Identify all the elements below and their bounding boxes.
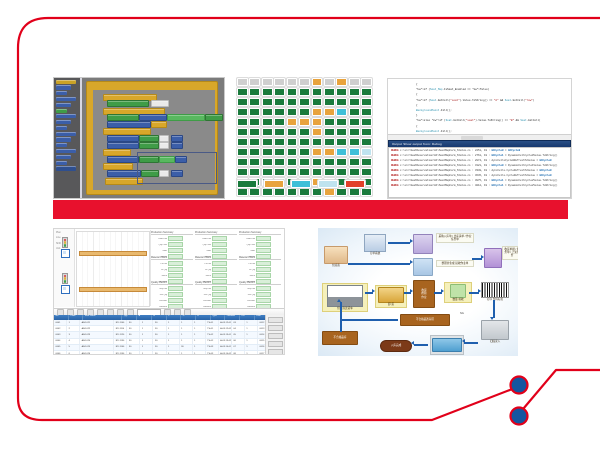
status-grid-cell[interactable] (274, 118, 285, 126)
table-cell[interactable]: RX-1100 (114, 320, 127, 325)
status-grid-cell[interactable] (336, 158, 347, 166)
status-grid-cell[interactable] (361, 108, 372, 116)
status-grid-cell[interactable] (349, 188, 360, 196)
status-grid-cell[interactable] (361, 168, 372, 176)
sheet-side-buttons[interactable] (265, 315, 284, 354)
status-grid-cell[interactable] (324, 138, 335, 146)
status-grid-cell[interactable] (349, 98, 360, 106)
status-grid-cell[interactable] (349, 158, 360, 166)
report-value (212, 248, 227, 253)
arrowhead-scan-to-putaway (462, 339, 465, 343)
table-cell[interactable]: RX-1140 (114, 345, 127, 350)
code-block[interactable] (139, 142, 159, 149)
status-grid-cell[interactable] (249, 98, 260, 106)
table-cell[interactable]: 08 (232, 351, 245, 354)
table-cell[interactable]: 0005 (54, 345, 67, 350)
flow-node-top[interactable] (61, 249, 70, 258)
status-grid-cell[interactable] (361, 78, 372, 86)
code-block[interactable] (107, 114, 139, 121)
table-cell[interactable]: AB-1025 (80, 345, 114, 350)
palette-block[interactable] (56, 109, 67, 113)
block-canvas[interactable] (82, 78, 224, 198)
table-cell[interactable]: 0004 (54, 339, 67, 344)
status-grid-cell[interactable] (274, 168, 285, 176)
palette-block[interactable] (56, 91, 67, 95)
table-cell[interactable]: A-03-13-01 (219, 332, 232, 337)
table-cell[interactable]: A-03-14-01 (219, 345, 232, 350)
table-cell[interactable]: RX-1130 (114, 339, 127, 344)
table-cell[interactable]: 1 (245, 326, 258, 331)
table-cell[interactable]: TS-01 (206, 320, 219, 325)
status-grid-cell[interactable] (312, 78, 323, 86)
arrow-reject-down (340, 319, 342, 332)
status-grid-cell[interactable] (299, 168, 310, 176)
status-grid-cell[interactable] (249, 78, 260, 86)
palette-block[interactable] (56, 126, 67, 130)
table-cell[interactable]: 1 (180, 351, 193, 354)
status-grid-cell[interactable] (274, 88, 285, 96)
status-grid-cell[interactable] (312, 158, 323, 166)
report-row: In Qty (195, 267, 237, 272)
table-cell[interactable]: 1 (193, 345, 206, 350)
table-cell[interactable]: 30 (127, 339, 140, 344)
code-block[interactable] (159, 135, 169, 142)
palette-block[interactable] (56, 161, 67, 165)
table-cell[interactable]: 2 (67, 326, 80, 331)
status-grid-cell[interactable] (299, 148, 310, 156)
palette-block[interactable] (56, 85, 71, 89)
status-grid-cell[interactable] (249, 118, 260, 126)
status-grid-panel[interactable] (237, 78, 372, 176)
status-grid-cell[interactable] (287, 88, 298, 96)
table-cell[interactable]: 30 (180, 345, 193, 350)
table-cell[interactable]: RX-1150 (114, 351, 127, 354)
status-grid-cell[interactable] (312, 118, 323, 126)
flow-node-putaway (430, 335, 464, 355)
status-grid-cell[interactable] (249, 108, 260, 116)
code-block[interactable] (103, 128, 151, 135)
status-grid-cell[interactable] (274, 188, 285, 196)
table-cell[interactable]: TS-03 (206, 351, 219, 354)
status-grid-cell[interactable] (287, 158, 298, 166)
table-cell[interactable]: 30 (127, 332, 140, 337)
flow-label-qty-check: 数量 验收 (452, 298, 463, 301)
code-block[interactable] (151, 121, 167, 128)
table-cell[interactable]: 03 (232, 320, 245, 325)
status-grid-cell[interactable] (237, 148, 248, 156)
status-grid-cell[interactable] (262, 188, 273, 196)
report-section-title: Quality Record (239, 281, 281, 285)
report-value (168, 298, 183, 303)
palette-block[interactable] (56, 149, 76, 153)
report-label: Qty Plan (151, 244, 167, 246)
table-cell[interactable]: A-03-12-02 (219, 326, 232, 331)
status-grid-cell[interactable] (312, 98, 323, 106)
report-label: NG Qty (195, 294, 211, 296)
status-grid-cell[interactable] (324, 108, 335, 116)
gantt-bar-2[interactable] (79, 287, 147, 292)
code-editor-panel[interactable]: { "kw">if (Seat_Map.IsSeat_Enabled == "k… (387, 78, 572, 199)
status-grid-cell[interactable] (324, 168, 335, 176)
report-label: Order No (151, 238, 167, 240)
status-grid-cell[interactable] (287, 98, 298, 106)
table-cell[interactable]: 1 (140, 339, 153, 344)
code-block[interactable] (103, 163, 133, 170)
status-grid-cell[interactable] (237, 188, 248, 196)
table-cell[interactable]: 30 (153, 351, 166, 354)
code-block[interactable] (171, 135, 183, 142)
table-cell[interactable]: RX-1120 (114, 332, 127, 337)
table-cell[interactable]: 1 (140, 326, 153, 331)
table-cell[interactable]: A-03-14-02 (219, 351, 232, 354)
status-grid-cell[interactable] (349, 118, 360, 126)
report-value (256, 273, 271, 278)
status-grid-cell[interactable] (361, 128, 372, 136)
status-grid-cell[interactable] (349, 148, 360, 156)
palette-block[interactable] (56, 114, 76, 118)
status-grid-cell[interactable] (336, 98, 347, 106)
table-cell[interactable]: 0003 (54, 332, 67, 337)
table-cell[interactable]: 0002 (54, 326, 67, 331)
status-grid-cell[interactable] (249, 138, 260, 146)
table-cell[interactable]: TS-03 (206, 345, 219, 350)
status-grid-cell[interactable] (237, 158, 248, 166)
code-block[interactable] (139, 135, 159, 142)
status-grid-cell[interactable] (249, 88, 260, 96)
status-grid-cell[interactable] (274, 128, 285, 136)
table-cell[interactable]: 0006 (54, 351, 67, 354)
report-row: Lot No (239, 261, 281, 266)
frame-path-tail (510, 370, 600, 415)
status-grid-cell[interactable] (312, 138, 323, 146)
code-block[interactable] (205, 114, 223, 121)
table-cell[interactable]: 1 (140, 345, 153, 350)
status-grid-cell[interactable] (237, 128, 248, 136)
report-section-title: Production Summary (195, 231, 237, 235)
accent-dot-lower (511, 408, 528, 425)
status-grid-cell[interactable] (299, 88, 310, 96)
console-output-body[interactable]: DEBUG c:\src\SeatReservation\UI\SeatMapF… (388, 147, 571, 198)
gantt-bar-1[interactable] (79, 251, 147, 256)
table-cell[interactable]: 1 (193, 332, 206, 337)
table-cell[interactable]: 1 (193, 351, 206, 354)
report-value (212, 242, 227, 247)
table-cell[interactable]: 1 (167, 345, 180, 350)
status-grid-cell[interactable] (349, 108, 360, 116)
status-grid-cell[interactable] (299, 108, 310, 116)
flow-node-supplier: 供应商 (324, 246, 348, 267)
code-block[interactable] (107, 142, 139, 149)
report-label: Order No (239, 238, 255, 240)
palette-block[interactable] (56, 166, 76, 170)
status-grid-cell[interactable] (336, 78, 347, 86)
table-cell[interactable]: TS-02 (206, 332, 219, 337)
status-grid-cell[interactable] (287, 118, 298, 126)
status-grid-cell[interactable] (299, 118, 310, 126)
table-cell[interactable]: 1 (67, 320, 80, 325)
side-button[interactable] (268, 349, 283, 355)
code-block[interactable] (107, 121, 151, 128)
status-grid-cell[interactable] (299, 128, 310, 136)
table-cell[interactable]: 30 (127, 351, 140, 354)
status-grid-cell[interactable] (349, 168, 360, 176)
status-grid-cell[interactable] (287, 128, 298, 136)
table-cell[interactable]: AB-1021 (80, 320, 114, 325)
code-text-area[interactable]: { "kw">if (Seat_Map.IsSeat_Enabled == "k… (388, 79, 571, 137)
status-grid-cell[interactable] (299, 98, 310, 106)
table-cell[interactable]: 1 (167, 326, 180, 331)
status-grid-cell[interactable] (274, 148, 285, 156)
table-cell[interactable]: 06 (232, 339, 245, 344)
palette-block[interactable] (56, 132, 76, 136)
table-cell[interactable]: A-03-12-01 (219, 320, 232, 325)
status-grid-cell[interactable] (361, 148, 372, 156)
table-cell[interactable]: 1 (140, 351, 153, 354)
status-grid-cell[interactable] (274, 98, 285, 106)
side-button[interactable] (268, 317, 283, 323)
status-grid-cell[interactable] (336, 188, 347, 196)
table-cell[interactable]: 07 (232, 345, 245, 350)
report-label: Insp No (151, 288, 167, 290)
table-cell[interactable]: 1 (180, 320, 193, 325)
report-row: Stock (239, 273, 281, 278)
report-value (256, 267, 271, 272)
status-grid-cell[interactable] (336, 128, 347, 136)
status-grid-cell[interactable] (262, 148, 273, 156)
status-grid-cell[interactable] (237, 168, 248, 176)
table-cell[interactable]: 30 (153, 339, 166, 344)
status-grid-cell[interactable] (287, 108, 298, 116)
side-button[interactable] (268, 341, 283, 347)
status-grid-cell[interactable] (312, 128, 323, 136)
status-grid-cell[interactable] (349, 138, 360, 146)
palette-block[interactable] (56, 80, 76, 84)
table-cell[interactable]: RX-1110 (114, 326, 127, 331)
status-grid-cell[interactable] (324, 98, 335, 106)
shelf-icon (432, 338, 462, 352)
status-grid-cell[interactable] (324, 188, 335, 196)
code-block[interactable] (107, 170, 141, 177)
report-label: In Qty (151, 269, 167, 271)
table-cell[interactable]: 5 (67, 345, 80, 350)
code-block[interactable] (103, 149, 131, 156)
status-grid-cell[interactable] (249, 128, 260, 136)
status-grid-cell[interactable] (262, 98, 273, 106)
status-grid-cell[interactable] (324, 78, 335, 86)
status-grid-cell[interactable] (336, 108, 347, 116)
status-grid-cell[interactable] (361, 98, 372, 106)
code-block[interactable] (107, 156, 139, 163)
status-grid-cell[interactable] (299, 158, 310, 166)
status-grid-cell[interactable] (361, 88, 372, 96)
palette-block[interactable] (56, 103, 71, 107)
table-cell[interactable]: 0001 (54, 320, 67, 325)
data-table-body[interactable]: 00011AB-1021RX-110030130111TS-01A-03-12-… (54, 320, 284, 354)
palette-block[interactable] (56, 143, 67, 147)
status-grid-cell[interactable] (324, 148, 335, 156)
side-button[interactable] (268, 325, 283, 331)
table-cell[interactable]: 30 (153, 345, 166, 350)
report-value (212, 286, 227, 291)
table-cell[interactable]: 1 (193, 320, 206, 325)
status-grid-cell[interactable] (312, 88, 323, 96)
status-grid-cell[interactable] (237, 78, 248, 86)
table-cell[interactable]: 1 (167, 320, 180, 325)
table-cell[interactable]: 30 (153, 320, 166, 325)
status-grid-cell[interactable] (324, 128, 335, 136)
status-grid-cell[interactable] (274, 138, 285, 146)
table-cell[interactable]: AB-1023 (80, 332, 114, 337)
status-grid-cell[interactable] (336, 118, 347, 126)
status-grid-cell[interactable] (299, 188, 310, 196)
status-grid-cell[interactable] (312, 188, 323, 196)
report-label: Order No (195, 238, 211, 240)
document-icon (413, 234, 433, 254)
status-grid-cell[interactable] (262, 138, 273, 146)
status-grid-cell[interactable] (336, 88, 347, 96)
table-cell[interactable]: 1 (167, 351, 180, 354)
side-button[interactable] (268, 333, 283, 339)
table-cell[interactable]: 30 (127, 326, 140, 331)
status-grid-cell[interactable] (312, 108, 323, 116)
table-cell[interactable]: 1 (167, 332, 180, 337)
status-grid-cell[interactable] (287, 168, 298, 176)
table-cell[interactable]: 1 (140, 320, 153, 325)
status-grid-cell[interactable] (361, 118, 372, 126)
status-grid-cell[interactable] (299, 138, 310, 146)
table-cell[interactable]: 1 (193, 339, 206, 344)
status-grid-cell[interactable] (262, 118, 273, 126)
table-cell[interactable]: 1 (193, 326, 206, 331)
code-block[interactable] (139, 114, 167, 121)
status-grid-cell[interactable] (237, 138, 248, 146)
table-cell[interactable]: 4 (67, 339, 80, 344)
report-row: Insp No (151, 286, 193, 291)
status-grid-cell[interactable] (336, 138, 347, 146)
spreadsheet-app-panel[interactable]: Plan Line Shift Unit Production (53, 228, 285, 355)
palette-block[interactable] (56, 97, 76, 101)
code-block[interactable] (159, 142, 169, 149)
status-grid-cell[interactable] (262, 88, 273, 96)
code-block[interactable] (151, 100, 169, 107)
table-cell[interactable]: 1 (245, 332, 258, 337)
status-grid-cell[interactable] (287, 78, 298, 86)
flow-label-doc-list: 采购入库单 / 出库清单 / 作业任务单 (438, 235, 472, 241)
table-cell[interactable]: 1 (180, 339, 193, 344)
status-grid-cell[interactable] (336, 148, 347, 156)
status-grid-cell[interactable] (287, 148, 298, 156)
table-cell[interactable]: 3 (67, 332, 80, 337)
status-grid-cell[interactable] (312, 148, 323, 156)
table-cell[interactable]: 1 (245, 351, 258, 354)
report-row: In Qty (151, 267, 193, 272)
block-editor-panel[interactable] (53, 77, 225, 199)
status-grid-cell[interactable] (237, 98, 248, 106)
table-cell[interactable]: A-03-13-02 (219, 339, 232, 344)
status-grid-cell[interactable] (249, 188, 260, 196)
table-cell[interactable]: 30 (153, 326, 166, 331)
block-group-outer[interactable] (86, 81, 218, 195)
table-cell[interactable]: 30 (127, 320, 140, 325)
code-block[interactable] (167, 114, 205, 121)
table-cell[interactable]: AB-1024 (80, 339, 114, 344)
table-row[interactable]: 00066AB-1026RX-115030130111TS-03A-03-14-… (54, 351, 284, 354)
status-grid-cell[interactable] (287, 188, 298, 196)
status-grid-cell[interactable] (361, 138, 372, 146)
status-grid-cell[interactable] (262, 108, 273, 116)
table-cell[interactable]: AB-1022 (80, 326, 114, 331)
table-cell[interactable]: 1 (140, 332, 153, 337)
status-grid-cell[interactable] (336, 168, 347, 176)
status-grid-cell[interactable] (287, 138, 298, 146)
status-grid-cell[interactable] (274, 158, 285, 166)
table-cell[interactable]: 04 (232, 326, 245, 331)
block-palette[interactable] (54, 78, 82, 198)
status-grid-cell[interactable] (237, 88, 248, 96)
table-cell[interactable]: 1 (180, 326, 193, 331)
table-cell[interactable]: 1 (167, 339, 180, 344)
table-cell[interactable]: 1 (245, 339, 258, 344)
status-grid-cell[interactable] (262, 78, 273, 86)
table-cell[interactable]: 30 (127, 345, 140, 350)
report-row: In Qty (239, 267, 281, 272)
table-cell[interactable]: 1 (245, 320, 258, 325)
status-grid-cell[interactable] (237, 108, 248, 116)
flow-label-unload: 卸 货 (388, 303, 394, 306)
palette-block[interactable] (56, 120, 71, 124)
report-row: Insp No (239, 286, 281, 291)
status-grid-cell[interactable] (274, 78, 285, 86)
status-grid-cell[interactable] (324, 118, 335, 126)
status-grid-cell[interactable] (349, 88, 360, 96)
status-grid-cell[interactable] (262, 128, 273, 136)
status-grid-cell[interactable] (249, 158, 260, 166)
status-grid-cell[interactable] (237, 118, 248, 126)
table-cell[interactable]: 05 (232, 332, 245, 337)
table-cell[interactable]: 1 (245, 345, 258, 350)
table-cell[interactable]: TS-02 (206, 339, 219, 344)
status-grid-cell[interactable] (349, 78, 360, 86)
status-grid-cell[interactable] (262, 158, 273, 166)
status-grid-cell[interactable] (249, 148, 260, 156)
palette-block[interactable] (56, 137, 71, 141)
arrowhead-unload-to-inspect (410, 289, 413, 293)
table-cell[interactable]: 30 (153, 332, 166, 337)
status-grid-cell[interactable] (361, 158, 372, 166)
table-cell[interactable]: 6 (67, 351, 80, 354)
status-grid-cell[interactable] (262, 168, 273, 176)
status-grid[interactable] (237, 78, 372, 196)
table-cell[interactable]: 1 (180, 332, 193, 337)
report-row: Order No (239, 236, 281, 241)
code-block[interactable] (107, 135, 139, 142)
status-grid-cell[interactable] (324, 88, 335, 96)
status-grid-cell[interactable] (312, 168, 323, 176)
status-grid-cell[interactable] (324, 158, 335, 166)
code-block[interactable] (171, 142, 183, 149)
table-cell[interactable]: TS-01 (206, 326, 219, 331)
status-grid-cell[interactable] (274, 108, 285, 116)
status-grid-cell[interactable] (361, 188, 372, 196)
code-block[interactable] (107, 100, 149, 107)
status-grid-cell[interactable] (249, 168, 260, 176)
status-grid-cell[interactable] (349, 128, 360, 136)
gantt-grid[interactable] (76, 231, 150, 307)
flow-node-bottom[interactable] (61, 285, 70, 294)
table-cell[interactable]: AB-1026 (80, 351, 114, 354)
palette-block[interactable] (56, 155, 71, 159)
status-grid-cell[interactable] (299, 78, 310, 86)
